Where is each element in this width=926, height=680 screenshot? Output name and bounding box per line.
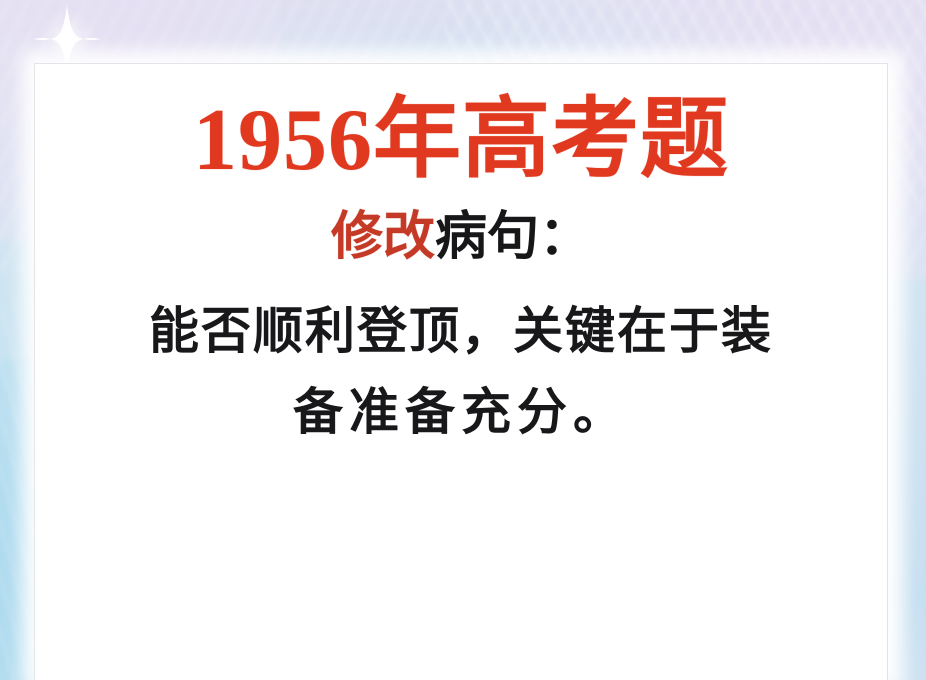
poster-content: 1956年高考题 修改病句： 能否顺利登顶，关键在于装 备准备充分。 [34,63,888,680]
page-title: 1956年高考题 [60,63,862,191]
subtitle-rest: 病句： [435,209,591,266]
subtitle: 修改病句： [60,191,862,268]
subtitle-highlight: 修改 [331,209,435,266]
question-body-line-2: 备准备充分。 [60,372,862,453]
question-body-line-1: 能否顺利登顶，关键在于装 [60,291,862,372]
poster-canvas: 1956年高考题 修改病句： 能否顺利登顶，关键在于装 备准备充分。 [0,0,926,680]
question-body: 能否顺利登顶，关键在于装 备准备充分。 [60,269,862,453]
